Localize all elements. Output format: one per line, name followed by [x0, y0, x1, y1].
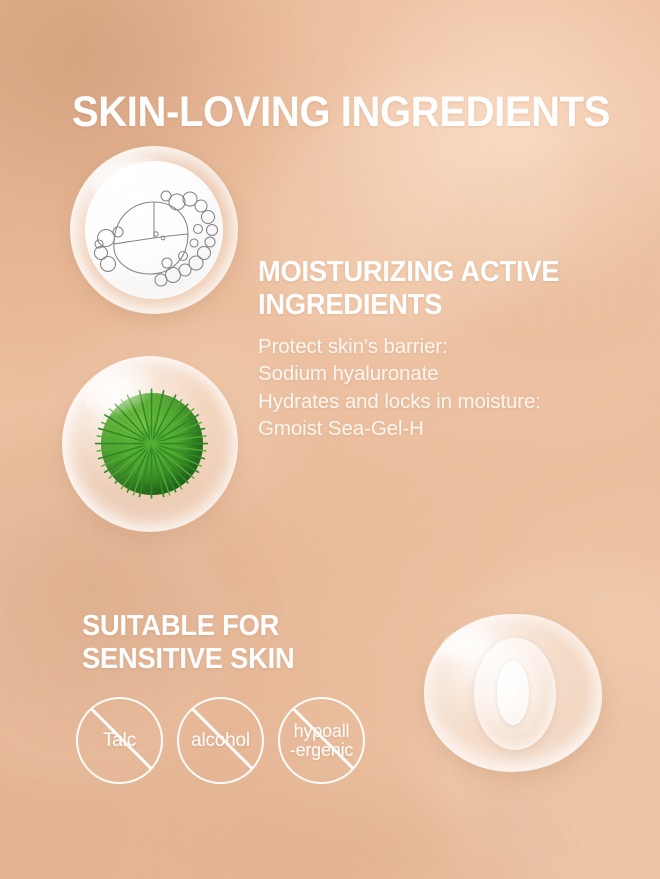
gel-blob-inner-ring [497, 661, 529, 724]
sensitive-heading-line-1: SUITABLE FOR [82, 610, 364, 643]
hypoallergenic-label-line-1: hypoall [290, 722, 353, 740]
moisturizing-body-copy: Protect skin's barrier: Sodium hyalurona… [258, 333, 608, 442]
body-line-4: Gmoist Sea-Gel-H [258, 415, 608, 442]
no-talc-label: Talc [103, 731, 136, 750]
foam-bubble-cluster-icon [70, 146, 238, 314]
hypoallergenic-label: hypoall -ergenic [290, 722, 353, 759]
body-line-1: Protect skin's barrier: [258, 333, 608, 360]
droplet-gel-image [70, 146, 238, 314]
gel-blob-image [424, 614, 602, 772]
moisturizing-heading: MOISTURIZING ACTIVE INGREDIENTS [258, 256, 568, 321]
hypoallergenic-badge: hypoall -ergenic [278, 697, 365, 784]
ingredient-infographic: SKIN-LOVING INGREDIENTS [0, 0, 660, 879]
body-line-2: Sodium hyaluronate [258, 360, 608, 387]
moisturizing-heading-line-2: INGREDIENTS [258, 289, 568, 321]
algae-spikes-icon [76, 368, 227, 519]
no-talc-badge: Talc [76, 697, 163, 784]
droplet-algae-image [62, 356, 238, 532]
no-alcohol-badge: alcohol [177, 697, 264, 784]
moisturizing-heading-line-1: MOISTURIZING ACTIVE [258, 256, 568, 288]
hypoallergenic-label-line-2: -ergenic [290, 741, 353, 759]
sensitive-heading-line-2: SENSITIVE SKIN [82, 643, 364, 676]
sensitive-skin-heading: SUITABLE FOR SENSITIVE SKIN [82, 610, 364, 677]
page-title: SKIN-LOVING INGREDIENTS [72, 91, 610, 135]
algae-sphere [101, 393, 203, 495]
free-from-badge-group: Talc alcohol hypoall -ergenic [76, 697, 365, 784]
body-line-3: Hydrates and locks in moisture: [258, 388, 608, 415]
no-alcohol-label: alcohol [191, 731, 250, 750]
